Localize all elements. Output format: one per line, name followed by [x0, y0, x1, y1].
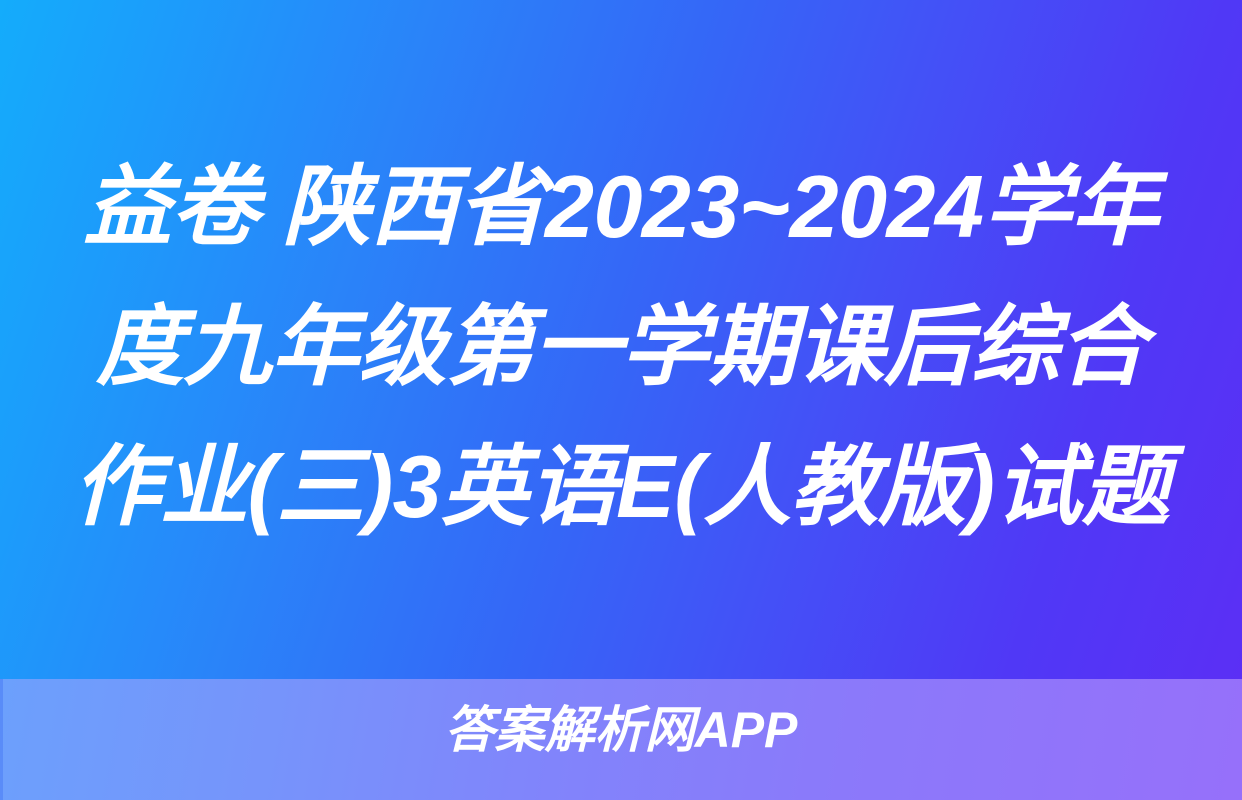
title-card: 益卷 陕西省2023~2024学年度九年级第一学期课后综合作业(三)3英语E(人… — [0, 0, 1242, 800]
page-title: 益卷 陕西省2023~2024学年度九年级第一学期课后综合作业(三)3英语E(人… — [66, 137, 1176, 557]
watermark-app-label: 答案解析网APP — [0, 700, 1242, 760]
title-container: 益卷 陕西省2023~2024学年度九年级第一学期课后综合作业(三)3英语E(人… — [0, 0, 1242, 720]
